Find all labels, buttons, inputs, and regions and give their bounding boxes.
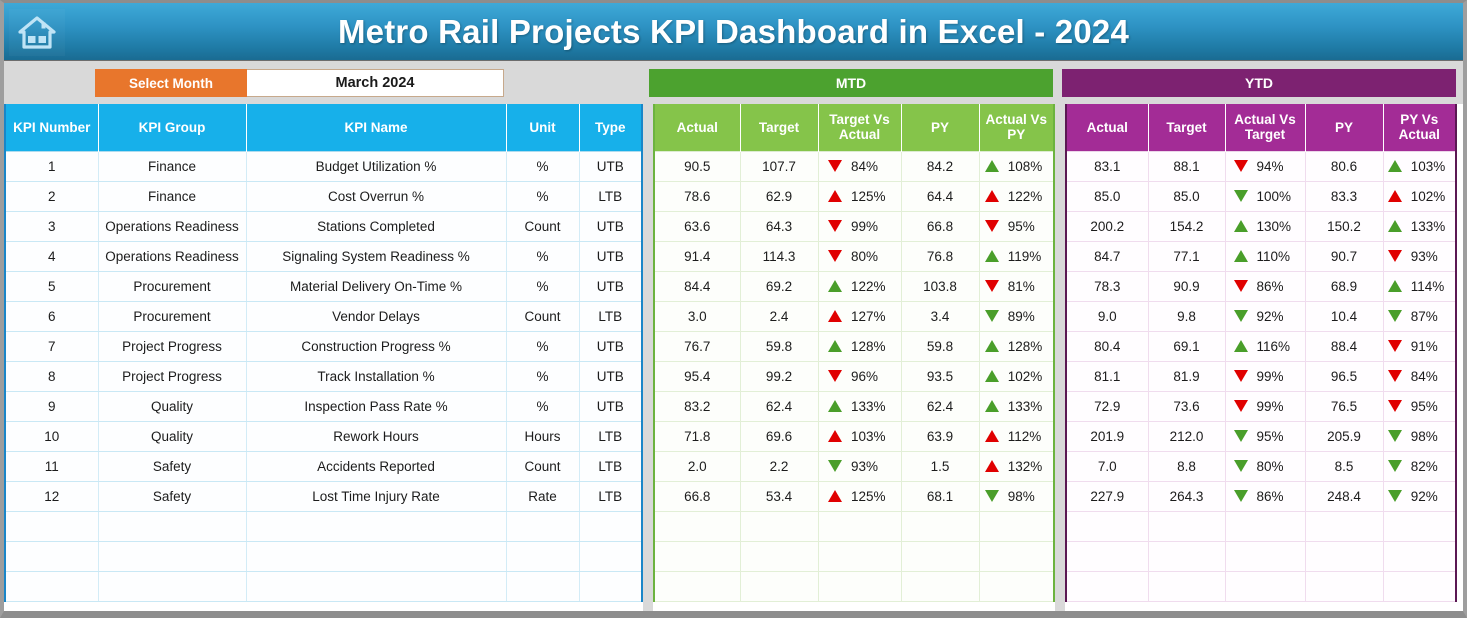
cell-unit[interactable] xyxy=(506,571,579,601)
cell-ytd-actual[interactable]: 80.4 xyxy=(1066,331,1148,361)
cell-kpi-name[interactable] xyxy=(246,541,506,571)
cell-ytd-actual[interactable]: 81.1 xyxy=(1066,361,1148,391)
cell-kpi-name[interactable]: Material Delivery On-Time % xyxy=(246,271,506,301)
cell-mtd-actual[interactable]: 90.5 xyxy=(654,151,740,181)
table-row xyxy=(654,511,1054,541)
variance-percent: 122% xyxy=(851,279,891,294)
cell-unit[interactable]: Count xyxy=(506,211,579,241)
cell-mtd-actual[interactable]: 63.6 xyxy=(654,211,740,241)
cell-mtd-target-vs-actual[interactable]: 125% xyxy=(818,481,901,511)
variance-percent: 125% xyxy=(851,489,891,504)
cell-kpi-group[interactable]: Safety xyxy=(98,481,246,511)
cell-kpi-number[interactable]: 7 xyxy=(5,331,98,361)
triangle-up-icon xyxy=(828,310,842,322)
cell-ytd-py-vs-actual[interactable]: 133% xyxy=(1383,211,1456,241)
cell-mtd-actual-vs-py[interactable]: 81% xyxy=(979,271,1054,301)
kpi-info-block: KPI Number KPI Group KPI Name Unit Type … xyxy=(4,104,643,611)
cell-mtd-actual[interactable]: 76.7 xyxy=(654,331,740,361)
cell-mtd-target-vs-actual[interactable]: 128% xyxy=(818,331,901,361)
mtd-table: Actual Target Target Vs Actual PY Actual… xyxy=(653,104,1055,602)
cell-ytd-py[interactable]: 83.3 xyxy=(1305,181,1383,211)
cell-mtd-actual-vs-py[interactable]: 128% xyxy=(979,331,1054,361)
cell-kpi-name[interactable]: Construction Progress % xyxy=(246,331,506,361)
cell-ytd-py[interactable]: 205.9 xyxy=(1305,421,1383,451)
cell-mtd-actual[interactable] xyxy=(654,511,740,541)
cell-mtd-actual[interactable]: 2.0 xyxy=(654,451,740,481)
col-ytd-py-vs-actual[interactable]: PY Vs Actual xyxy=(1383,104,1456,151)
cell-kpi-name[interactable]: Lost Time Injury Rate xyxy=(246,481,506,511)
cell-ytd-py-vs-actual[interactable] xyxy=(1383,571,1456,601)
cell-ytd-target[interactable] xyxy=(1148,541,1225,571)
cell-mtd-actual-vs-py[interactable]: 102% xyxy=(979,361,1054,391)
cell-mtd-actual[interactable]: 91.4 xyxy=(654,241,740,271)
triangle-up-icon xyxy=(1234,340,1248,352)
triangle-up-icon xyxy=(828,400,842,412)
cell-ytd-actual[interactable]: 227.9 xyxy=(1066,481,1148,511)
cell-ytd-actual-vs-target[interactable]: 86% xyxy=(1225,481,1305,511)
ytd-banner: YTD xyxy=(1062,69,1456,97)
cell-ytd-actual[interactable]: 200.2 xyxy=(1066,211,1148,241)
cell-kpi-name[interactable] xyxy=(246,511,506,541)
cell-ytd-actual[interactable] xyxy=(1066,571,1148,601)
cell-ytd-py-vs-actual[interactable] xyxy=(1383,511,1456,541)
cell-ytd-actual-vs-target[interactable]: 95% xyxy=(1225,421,1305,451)
variance-percent: 80% xyxy=(1257,459,1297,474)
cell-kpi-name[interactable]: Signaling System Readiness % xyxy=(246,241,506,271)
cell-mtd-target-vs-actual[interactable]: 122% xyxy=(818,271,901,301)
cell-mtd-target[interactable]: 59.8 xyxy=(740,331,818,361)
col-ytd-target[interactable]: Target xyxy=(1148,104,1225,151)
cell-mtd-target[interactable]: 62.4 xyxy=(740,391,818,421)
month-selector[interactable]: Select Month March 2024 xyxy=(95,69,504,97)
triangle-up-icon xyxy=(985,430,999,442)
col-type[interactable]: Type xyxy=(579,104,642,151)
cell-kpi-group[interactable] xyxy=(98,511,246,541)
select-month-label[interactable]: Select Month xyxy=(95,69,247,97)
cell-ytd-actual[interactable]: 83.1 xyxy=(1066,151,1148,181)
variance-percent: 133% xyxy=(1008,399,1048,414)
ytd-block: Actual Target Actual Vs Target PY PY Vs … xyxy=(1065,104,1457,611)
cell-mtd-target[interactable]: 99.2 xyxy=(740,361,818,391)
cell-type[interactable]: UTB xyxy=(579,391,642,421)
cell-ytd-target[interactable]: 264.3 xyxy=(1148,481,1225,511)
cell-mtd-target[interactable]: 107.7 xyxy=(740,151,818,181)
cell-kpi-group[interactable]: Procurement xyxy=(98,301,246,331)
triangle-up-icon xyxy=(828,490,842,502)
cell-ytd-actual-vs-target[interactable] xyxy=(1225,511,1305,541)
cell-mtd-actual-vs-py[interactable]: 119% xyxy=(979,241,1054,271)
table-row: 9QualityInspection Pass Rate %%UTB xyxy=(5,391,642,421)
cell-mtd-py[interactable]: 3.4 xyxy=(901,301,979,331)
cell-ytd-py-vs-actual[interactable]: 93% xyxy=(1383,241,1456,271)
cell-mtd-target[interactable] xyxy=(740,511,818,541)
cell-unit[interactable]: % xyxy=(506,391,579,421)
cell-kpi-group[interactable]: Operations Readiness xyxy=(98,241,246,271)
col-unit[interactable]: Unit xyxy=(506,104,579,151)
triangle-down-icon xyxy=(828,370,842,382)
cell-ytd-target[interactable]: 85.0 xyxy=(1148,181,1225,211)
cell-kpi-group[interactable]: Finance xyxy=(98,151,246,181)
cell-mtd-target-vs-actual[interactable]: 93% xyxy=(818,451,901,481)
cell-ytd-target[interactable] xyxy=(1148,571,1225,601)
cell-ytd-target[interactable]: 73.6 xyxy=(1148,391,1225,421)
cell-ytd-target[interactable]: 88.1 xyxy=(1148,151,1225,181)
cell-mtd-actual[interactable]: 3.0 xyxy=(654,301,740,331)
triangle-down-icon xyxy=(828,160,842,172)
cell-kpi-group[interactable]: Procurement xyxy=(98,271,246,301)
cell-ytd-actual-vs-target[interactable]: 99% xyxy=(1225,391,1305,421)
cell-type[interactable]: UTB xyxy=(579,241,642,271)
cell-ytd-py[interactable]: 150.2 xyxy=(1305,211,1383,241)
cell-unit[interactable]: % xyxy=(506,181,579,211)
dashboard-root: Metro Rail Projects KPI Dashboard in Exc… xyxy=(0,0,1467,618)
cell-ytd-py[interactable]: 68.9 xyxy=(1305,271,1383,301)
cell-ytd-actual-vs-target[interactable]: 130% xyxy=(1225,211,1305,241)
variance-percent: 108% xyxy=(1008,159,1048,174)
cell-ytd-py-vs-actual[interactable]: 84% xyxy=(1383,361,1456,391)
col-mtd-actual[interactable]: Actual xyxy=(654,104,740,151)
variance-percent: 93% xyxy=(851,459,891,474)
cell-unit[interactable]: % xyxy=(506,241,579,271)
cell-ytd-target[interactable]: 81.9 xyxy=(1148,361,1225,391)
cell-mtd-actual-vs-py[interactable] xyxy=(979,571,1054,601)
cell-mtd-target-vs-actual[interactable]: 133% xyxy=(818,391,901,421)
cell-ytd-py-vs-actual[interactable]: 82% xyxy=(1383,451,1456,481)
variance-percent: 119% xyxy=(1008,249,1048,264)
cell-type[interactable]: LTB xyxy=(579,181,642,211)
cell-mtd-py[interactable]: 1.5 xyxy=(901,451,979,481)
cell-mtd-py[interactable]: 76.8 xyxy=(901,241,979,271)
cell-mtd-actual-vs-py[interactable]: 98% xyxy=(979,481,1054,511)
cell-ytd-py-vs-actual[interactable]: 114% xyxy=(1383,271,1456,301)
kpi-grid-area: KPI Number KPI Group KPI Name Unit Type … xyxy=(4,104,1463,611)
triangle-down-icon xyxy=(1234,310,1248,322)
cell-type[interactable]: UTB xyxy=(579,331,642,361)
cell-mtd-actual-vs-py[interactable]: 122% xyxy=(979,181,1054,211)
cell-ytd-actual[interactable]: 84.7 xyxy=(1066,241,1148,271)
cell-kpi-group[interactable]: Quality xyxy=(98,391,246,421)
cell-mtd-actual-vs-py[interactable]: 95% xyxy=(979,211,1054,241)
cell-mtd-target[interactable]: 2.2 xyxy=(740,451,818,481)
cell-mtd-py[interactable] xyxy=(901,571,979,601)
cell-ytd-actual-vs-target[interactable]: 110% xyxy=(1225,241,1305,271)
col-kpi-number[interactable]: KPI Number xyxy=(5,104,98,151)
cell-ytd-target[interactable]: 90.9 xyxy=(1148,271,1225,301)
cell-type[interactable]: UTB xyxy=(579,271,642,301)
cell-ytd-actual-vs-target[interactable]: 80% xyxy=(1225,451,1305,481)
cell-ytd-py[interactable] xyxy=(1305,571,1383,601)
col-mtd-target-vs-actual[interactable]: Target Vs Actual xyxy=(818,104,901,151)
cell-mtd-actual[interactable]: 78.6 xyxy=(654,181,740,211)
cell-kpi-name[interactable]: Budget Utilization % xyxy=(246,151,506,181)
cell-unit[interactable]: % xyxy=(506,271,579,301)
cell-kpi-number[interactable]: 9 xyxy=(5,391,98,421)
triangle-up-icon xyxy=(1234,220,1248,232)
cell-ytd-actual[interactable] xyxy=(1066,511,1148,541)
cell-kpi-group[interactable]: Project Progress xyxy=(98,361,246,391)
cell-ytd-py-vs-actual[interactable]: 91% xyxy=(1383,331,1456,361)
cell-kpi-group[interactable]: Operations Readiness xyxy=(98,211,246,241)
variance-percent: 103% xyxy=(851,429,891,444)
cell-ytd-py[interactable]: 96.5 xyxy=(1305,361,1383,391)
cell-mtd-actual-vs-py[interactable] xyxy=(979,541,1054,571)
cell-mtd-actual-vs-py[interactable]: 89% xyxy=(979,301,1054,331)
cell-mtd-actual[interactable]: 66.8 xyxy=(654,481,740,511)
cell-kpi-number[interactable]: 11 xyxy=(5,451,98,481)
cell-ytd-py-vs-actual[interactable]: 87% xyxy=(1383,301,1456,331)
cell-mtd-py[interactable]: 66.8 xyxy=(901,211,979,241)
cell-kpi-number[interactable]: 10 xyxy=(5,421,98,451)
cell-ytd-py[interactable]: 8.5 xyxy=(1305,451,1383,481)
cell-mtd-py[interactable]: 62.4 xyxy=(901,391,979,421)
variance-percent: 95% xyxy=(1257,429,1297,444)
cell-kpi-name[interactable]: Cost Overrun % xyxy=(246,181,506,211)
cell-kpi-name[interactable]: Vendor Delays xyxy=(246,301,506,331)
triangle-up-icon xyxy=(828,280,842,292)
cell-mtd-target-vs-actual[interactable]: 96% xyxy=(818,361,901,391)
cell-kpi-name[interactable]: Stations Completed xyxy=(246,211,506,241)
cell-type[interactable]: LTB xyxy=(579,451,642,481)
triangle-down-icon xyxy=(1388,340,1402,352)
cell-mtd-actual-vs-py[interactable]: 133% xyxy=(979,391,1054,421)
cell-mtd-target-vs-actual[interactable]: 127% xyxy=(818,301,901,331)
cell-ytd-target[interactable]: 9.8 xyxy=(1148,301,1225,331)
cell-ytd-py-vs-actual[interactable]: 95% xyxy=(1383,391,1456,421)
cell-ytd-actual[interactable]: 7.0 xyxy=(1066,451,1148,481)
cell-mtd-target[interactable] xyxy=(740,541,818,571)
cell-ytd-py[interactable]: 80.6 xyxy=(1305,151,1383,181)
col-kpi-name[interactable]: KPI Name xyxy=(246,104,506,151)
cell-unit[interactable]: % xyxy=(506,151,579,181)
col-ytd-actual[interactable]: Actual xyxy=(1066,104,1148,151)
variance-percent: 82% xyxy=(1411,459,1451,474)
cell-kpi-name[interactable] xyxy=(246,571,506,601)
cell-kpi-number[interactable]: 2 xyxy=(5,181,98,211)
cell-ytd-actual-vs-target[interactable]: 100% xyxy=(1225,181,1305,211)
cell-unit[interactable]: Count xyxy=(506,451,579,481)
cell-mtd-target-vs-actual[interactable] xyxy=(818,571,901,601)
cell-ytd-py[interactable] xyxy=(1305,541,1383,571)
cell-ytd-py-vs-actual[interactable]: 102% xyxy=(1383,181,1456,211)
variance-percent: 94% xyxy=(1257,159,1297,174)
cell-kpi-name[interactable]: Inspection Pass Rate % xyxy=(246,391,506,421)
cell-ytd-py[interactable]: 76.5 xyxy=(1305,391,1383,421)
cell-ytd-py[interactable]: 90.7 xyxy=(1305,241,1383,271)
cell-kpi-name[interactable]: Rework Hours xyxy=(246,421,506,451)
cell-ytd-actual[interactable]: 78.3 xyxy=(1066,271,1148,301)
cell-mtd-actual[interactable]: 84.4 xyxy=(654,271,740,301)
cell-kpi-group[interactable] xyxy=(98,541,246,571)
cell-mtd-target-vs-actual[interactable] xyxy=(818,511,901,541)
selected-month-value[interactable]: March 2024 xyxy=(247,69,504,97)
cell-mtd-py[interactable] xyxy=(901,541,979,571)
cell-ytd-py[interactable]: 10.4 xyxy=(1305,301,1383,331)
cell-ytd-py[interactable]: 88.4 xyxy=(1305,331,1383,361)
table-row: 95.499.296%93.5102% xyxy=(654,361,1054,391)
cell-unit[interactable]: Rate xyxy=(506,481,579,511)
cell-kpi-group[interactable]: Safety xyxy=(98,451,246,481)
cell-ytd-py-vs-actual[interactable]: 98% xyxy=(1383,421,1456,451)
variance-percent: 84% xyxy=(1411,369,1451,384)
cell-ytd-target[interactable]: 154.2 xyxy=(1148,211,1225,241)
cell-ytd-target[interactable]: 8.8 xyxy=(1148,451,1225,481)
cell-ytd-actual-vs-target[interactable]: 92% xyxy=(1225,301,1305,331)
col-mtd-target[interactable]: Target xyxy=(740,104,818,151)
table-row xyxy=(1066,511,1456,541)
cell-ytd-actual-vs-target[interactable]: 99% xyxy=(1225,361,1305,391)
cell-ytd-actual[interactable]: 9.0 xyxy=(1066,301,1148,331)
table-row: 91.4114.380%76.8119% xyxy=(654,241,1054,271)
cell-type[interactable]: LTB xyxy=(579,421,642,451)
mtd-banner: MTD xyxy=(649,69,1053,97)
cell-mtd-target[interactable]: 2.4 xyxy=(740,301,818,331)
cell-ytd-py[interactable] xyxy=(1305,511,1383,541)
cell-mtd-target[interactable]: 114.3 xyxy=(740,241,818,271)
cell-kpi-group[interactable]: Finance xyxy=(98,181,246,211)
cell-mtd-target-vs-actual[interactable] xyxy=(818,541,901,571)
triangle-down-icon xyxy=(828,460,842,472)
cell-kpi-number[interactable]: 8 xyxy=(5,361,98,391)
cell-unit[interactable]: Hours xyxy=(506,421,579,451)
cell-mtd-py[interactable]: 68.1 xyxy=(901,481,979,511)
cell-ytd-actual-vs-target[interactable] xyxy=(1225,571,1305,601)
cell-ytd-actual-vs-target[interactable]: 116% xyxy=(1225,331,1305,361)
cell-mtd-actual-vs-py[interactable]: 112% xyxy=(979,421,1054,451)
cell-type[interactable] xyxy=(579,571,642,601)
cell-unit[interactable] xyxy=(506,511,579,541)
cell-kpi-number[interactable]: 3 xyxy=(5,211,98,241)
cell-mtd-py[interactable]: 93.5 xyxy=(901,361,979,391)
cell-type[interactable]: UTB xyxy=(579,151,642,181)
cell-unit[interactable] xyxy=(506,541,579,571)
triangle-down-icon xyxy=(985,310,999,322)
cell-kpi-group[interactable]: Quality xyxy=(98,421,246,451)
cell-type[interactable]: UTB xyxy=(579,211,642,241)
cell-mtd-target[interactable]: 62.9 xyxy=(740,181,818,211)
cell-ytd-target[interactable]: 212.0 xyxy=(1148,421,1225,451)
col-ytd-actual-vs-target[interactable]: Actual Vs Target xyxy=(1225,104,1305,151)
home-button[interactable] xyxy=(9,9,65,56)
cell-kpi-number[interactable]: 4 xyxy=(5,241,98,271)
cell-mtd-target-vs-actual[interactable]: 103% xyxy=(818,421,901,451)
variance-percent: 81% xyxy=(1008,279,1048,294)
cell-ytd-py-vs-actual[interactable]: 103% xyxy=(1383,151,1456,181)
cell-type[interactable]: LTB xyxy=(579,481,642,511)
cell-mtd-py[interactable]: 103.8 xyxy=(901,271,979,301)
cell-mtd-target[interactable]: 53.4 xyxy=(740,481,818,511)
cell-mtd-actual[interactable]: 83.2 xyxy=(654,391,740,421)
cell-mtd-target[interactable]: 64.3 xyxy=(740,211,818,241)
cell-mtd-target-vs-actual[interactable]: 80% xyxy=(818,241,901,271)
cell-ytd-actual-vs-target[interactable] xyxy=(1225,541,1305,571)
variance-percent: 86% xyxy=(1257,279,1297,294)
cell-kpi-group[interactable]: Project Progress xyxy=(98,331,246,361)
cell-kpi-number[interactable]: 12 xyxy=(5,481,98,511)
variance-percent: 93% xyxy=(1411,249,1451,264)
variance-percent: 114% xyxy=(1411,279,1451,294)
cell-mtd-py[interactable] xyxy=(901,511,979,541)
cell-ytd-target[interactable]: 69.1 xyxy=(1148,331,1225,361)
table-row xyxy=(5,511,642,541)
cell-ytd-target[interactable]: 77.1 xyxy=(1148,241,1225,271)
col-kpi-group[interactable]: KPI Group xyxy=(98,104,246,151)
cell-type[interactable]: UTB xyxy=(579,361,642,391)
cell-mtd-target[interactable]: 69.6 xyxy=(740,421,818,451)
cell-ytd-actual[interactable] xyxy=(1066,541,1148,571)
cell-ytd-py[interactable]: 248.4 xyxy=(1305,481,1383,511)
variance-percent: 98% xyxy=(1411,429,1451,444)
cell-kpi-number[interactable] xyxy=(5,511,98,541)
col-mtd-actual-vs-py[interactable]: Actual Vs PY xyxy=(979,104,1054,151)
title-bar: Metro Rail Projects KPI Dashboard in Exc… xyxy=(4,3,1463,61)
cell-kpi-number[interactable]: 5 xyxy=(5,271,98,301)
cell-kpi-number[interactable] xyxy=(5,571,98,601)
cell-ytd-py-vs-actual[interactable]: 92% xyxy=(1383,481,1456,511)
col-ytd-py[interactable]: PY xyxy=(1305,104,1383,151)
cell-ytd-actual-vs-target[interactable]: 86% xyxy=(1225,271,1305,301)
cell-ytd-actual[interactable]: 72.9 xyxy=(1066,391,1148,421)
table-row xyxy=(654,571,1054,601)
cell-mtd-py[interactable]: 59.8 xyxy=(901,331,979,361)
cell-kpi-name[interactable]: Track Installation % xyxy=(246,361,506,391)
cell-mtd-actual[interactable] xyxy=(654,541,740,571)
cell-kpi-number[interactable]: 6 xyxy=(5,301,98,331)
cell-mtd-target[interactable] xyxy=(740,571,818,601)
cell-mtd-target-vs-actual[interactable]: 84% xyxy=(818,151,901,181)
cell-kpi-group[interactable] xyxy=(98,571,246,601)
variance-percent: 92% xyxy=(1411,489,1451,504)
table-row xyxy=(654,541,1054,571)
home-icon xyxy=(18,16,56,50)
cell-mtd-actual-vs-py[interactable]: 132% xyxy=(979,451,1054,481)
cell-kpi-number[interactable]: 1 xyxy=(5,151,98,181)
cell-mtd-py[interactable]: 84.2 xyxy=(901,151,979,181)
cell-unit[interactable]: % xyxy=(506,361,579,391)
cell-mtd-py[interactable]: 63.9 xyxy=(901,421,979,451)
table-row: 1FinanceBudget Utilization %%UTB xyxy=(5,151,642,181)
triangle-down-icon xyxy=(1388,400,1402,412)
kpi-info-body: 1FinanceBudget Utilization %%UTB2Finance… xyxy=(5,151,642,601)
triangle-down-icon xyxy=(985,280,999,292)
page-title: Metro Rail Projects KPI Dashboard in Exc… xyxy=(4,13,1463,51)
cell-unit[interactable]: Count xyxy=(506,301,579,331)
cell-ytd-target[interactable] xyxy=(1148,511,1225,541)
cell-mtd-actual[interactable]: 95.4 xyxy=(654,361,740,391)
triangle-up-icon xyxy=(985,190,999,202)
cell-type[interactable]: LTB xyxy=(579,301,642,331)
cell-mtd-actual-vs-py[interactable]: 108% xyxy=(979,151,1054,181)
cell-mtd-py[interactable]: 64.4 xyxy=(901,181,979,211)
triangle-up-icon xyxy=(1388,220,1402,232)
cell-ytd-actual[interactable]: 201.9 xyxy=(1066,421,1148,451)
cell-unit[interactable]: % xyxy=(506,331,579,361)
cell-mtd-target-vs-actual[interactable]: 125% xyxy=(818,181,901,211)
cell-type[interactable] xyxy=(579,511,642,541)
cell-ytd-actual[interactable]: 85.0 xyxy=(1066,181,1148,211)
cell-mtd-target[interactable]: 69.2 xyxy=(740,271,818,301)
cell-ytd-py-vs-actual[interactable] xyxy=(1383,541,1456,571)
cell-kpi-number[interactable] xyxy=(5,541,98,571)
cell-kpi-name[interactable]: Accidents Reported xyxy=(246,451,506,481)
variance-percent: 84% xyxy=(851,159,891,174)
cell-mtd-actual-vs-py[interactable] xyxy=(979,511,1054,541)
col-mtd-py[interactable]: PY xyxy=(901,104,979,151)
cell-mtd-actual[interactable]: 71.8 xyxy=(654,421,740,451)
cell-ytd-actual-vs-target[interactable]: 94% xyxy=(1225,151,1305,181)
cell-type[interactable] xyxy=(579,541,642,571)
cell-mtd-target-vs-actual[interactable]: 99% xyxy=(818,211,901,241)
cell-mtd-actual[interactable] xyxy=(654,571,740,601)
